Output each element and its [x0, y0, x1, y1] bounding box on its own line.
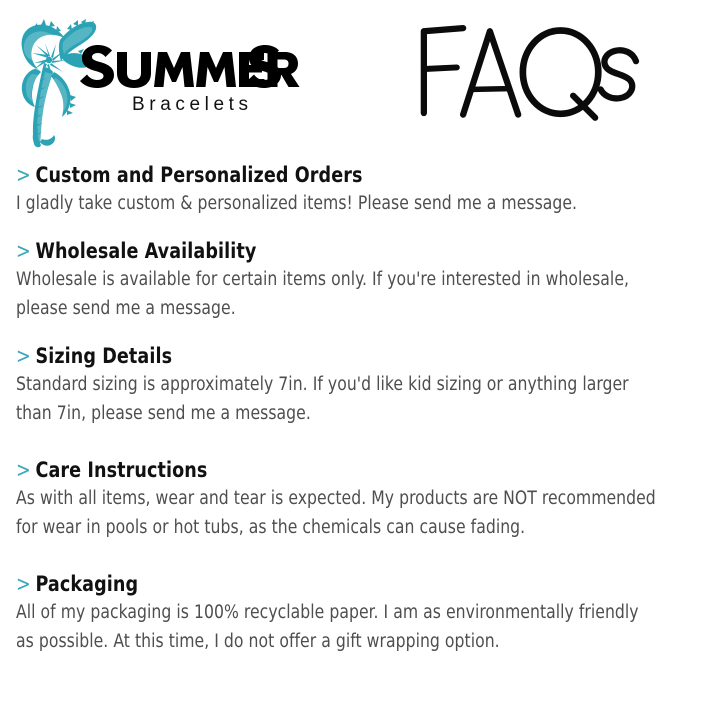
- faq-body: I gladly take custom & personalized item…: [16, 189, 661, 218]
- faq-page: Bracelets: [0, 0, 720, 720]
- faq-body: Standard sizing is approximately 7in. If…: [16, 370, 661, 428]
- chevron-right-icon: >: [16, 162, 31, 189]
- faq-heading[interactable]: >Care Instructions: [16, 457, 654, 484]
- faq-item[interactable]: >Custom and Personalized Orders I gladly…: [0, 162, 720, 218]
- brand-subtitle: Bracelets: [132, 94, 253, 116]
- chevron-right-icon: >: [16, 571, 31, 598]
- faq-item[interactable]: >Packaging All of my packaging is 100% r…: [0, 571, 720, 656]
- faq-item[interactable]: >Care Instructions As with all items, we…: [0, 457, 720, 542]
- faq-body: As with all items, wear and tear is expe…: [16, 484, 661, 542]
- faq-body: Wholesale is available for certain items…: [16, 265, 661, 323]
- faq-item[interactable]: >Sizing Details Standard sizing is appro…: [0, 343, 720, 428]
- faq-heading-label: Care Instructions: [35, 458, 207, 482]
- faq-heading-label: Custom and Personalized Orders: [35, 163, 362, 187]
- faq-heading-label: Sizing Details: [35, 344, 172, 368]
- brand-lockup: Bracelets: [10, 8, 310, 148]
- faq-item[interactable]: >Wholesale Availability Wholesale is ava…: [0, 238, 720, 323]
- faq-heading[interactable]: >Packaging: [16, 571, 654, 598]
- faq-heading[interactable]: >Wholesale Availability: [16, 238, 654, 265]
- chevron-right-icon: >: [16, 343, 31, 370]
- faq-body: All of my packaging is 100% recyclable p…: [16, 598, 661, 656]
- brand-wordmark: [78, 40, 308, 88]
- page-title: [406, 14, 646, 124]
- faq-heading[interactable]: >Sizing Details: [16, 343, 654, 370]
- faq-list: >Custom and Personalized Orders I gladly…: [0, 150, 720, 656]
- faq-heading[interactable]: >Custom and Personalized Orders: [16, 162, 654, 189]
- chevron-right-icon: >: [16, 457, 31, 484]
- faq-heading-label: Packaging: [35, 572, 138, 596]
- faq-heading-label: Wholesale Availability: [35, 239, 256, 263]
- page-header: Bracelets: [0, 0, 720, 150]
- chevron-right-icon: >: [16, 238, 31, 265]
